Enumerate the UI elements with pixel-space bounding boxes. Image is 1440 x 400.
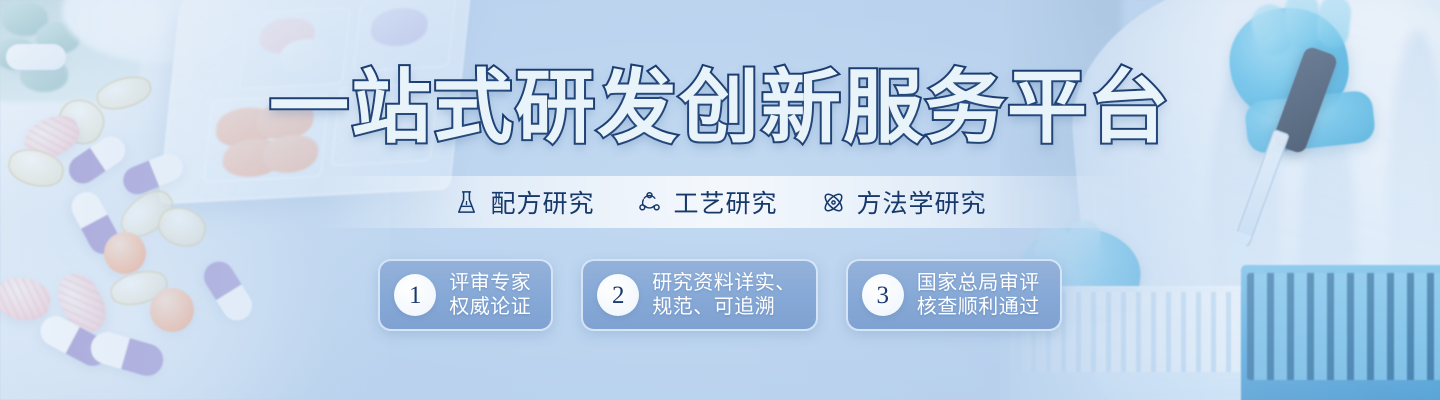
feature-number: 2 [597, 274, 639, 316]
banner-content: 一站式研发创新服务平台 配方研究 [0, 0, 1440, 400]
feature-text: 研究资料详实、 规范、可追溯 [652, 271, 796, 320]
feature-line-1: 国家总局审评 [917, 271, 1040, 295]
feature-line-1: 评审专家 [449, 271, 531, 295]
feature-card-3[interactable]: 3 国家总局审评 核查顺利通过 [846, 259, 1062, 331]
feature-text: 国家总局审评 核查顺利通过 [917, 271, 1040, 320]
atom-icon [820, 189, 847, 216]
page-title: 一站式研发创新服务平台 [0, 68, 1440, 148]
molecule-icon [636, 189, 663, 216]
service-item-methodology[interactable]: 方法学研究 [820, 184, 987, 220]
feature-card-1[interactable]: 1 评审专家 权威论证 [378, 259, 553, 331]
feature-card-2[interactable]: 2 研究资料详实、 规范、可追溯 [581, 259, 818, 331]
promo-banner: 一站式研发创新服务平台 配方研究 [0, 0, 1440, 400]
service-label: 配方研究 [490, 184, 594, 220]
feature-number: 3 [862, 274, 904, 316]
service-item-formulation[interactable]: 配方研究 [453, 184, 594, 220]
feature-card-list: 1 评审专家 权威论证 2 研究资料详实、 规范、可追溯 3 国家总局审评 核查… [0, 259, 1440, 331]
feature-line-2: 权威论证 [449, 295, 531, 319]
feature-line-2: 规范、可追溯 [652, 295, 796, 319]
service-item-process[interactable]: 工艺研究 [636, 184, 777, 220]
service-list: 配方研究 工艺研究 方法学研究 [0, 176, 1440, 228]
flask-icon [453, 189, 480, 216]
feature-text: 评审专家 权威论证 [449, 271, 531, 320]
feature-line-1: 研究资料详实、 [652, 271, 796, 295]
service-label: 工艺研究 [673, 184, 777, 220]
service-label: 方法学研究 [857, 184, 987, 220]
feature-number: 1 [394, 274, 436, 316]
feature-line-2: 核查顺利通过 [917, 295, 1040, 319]
